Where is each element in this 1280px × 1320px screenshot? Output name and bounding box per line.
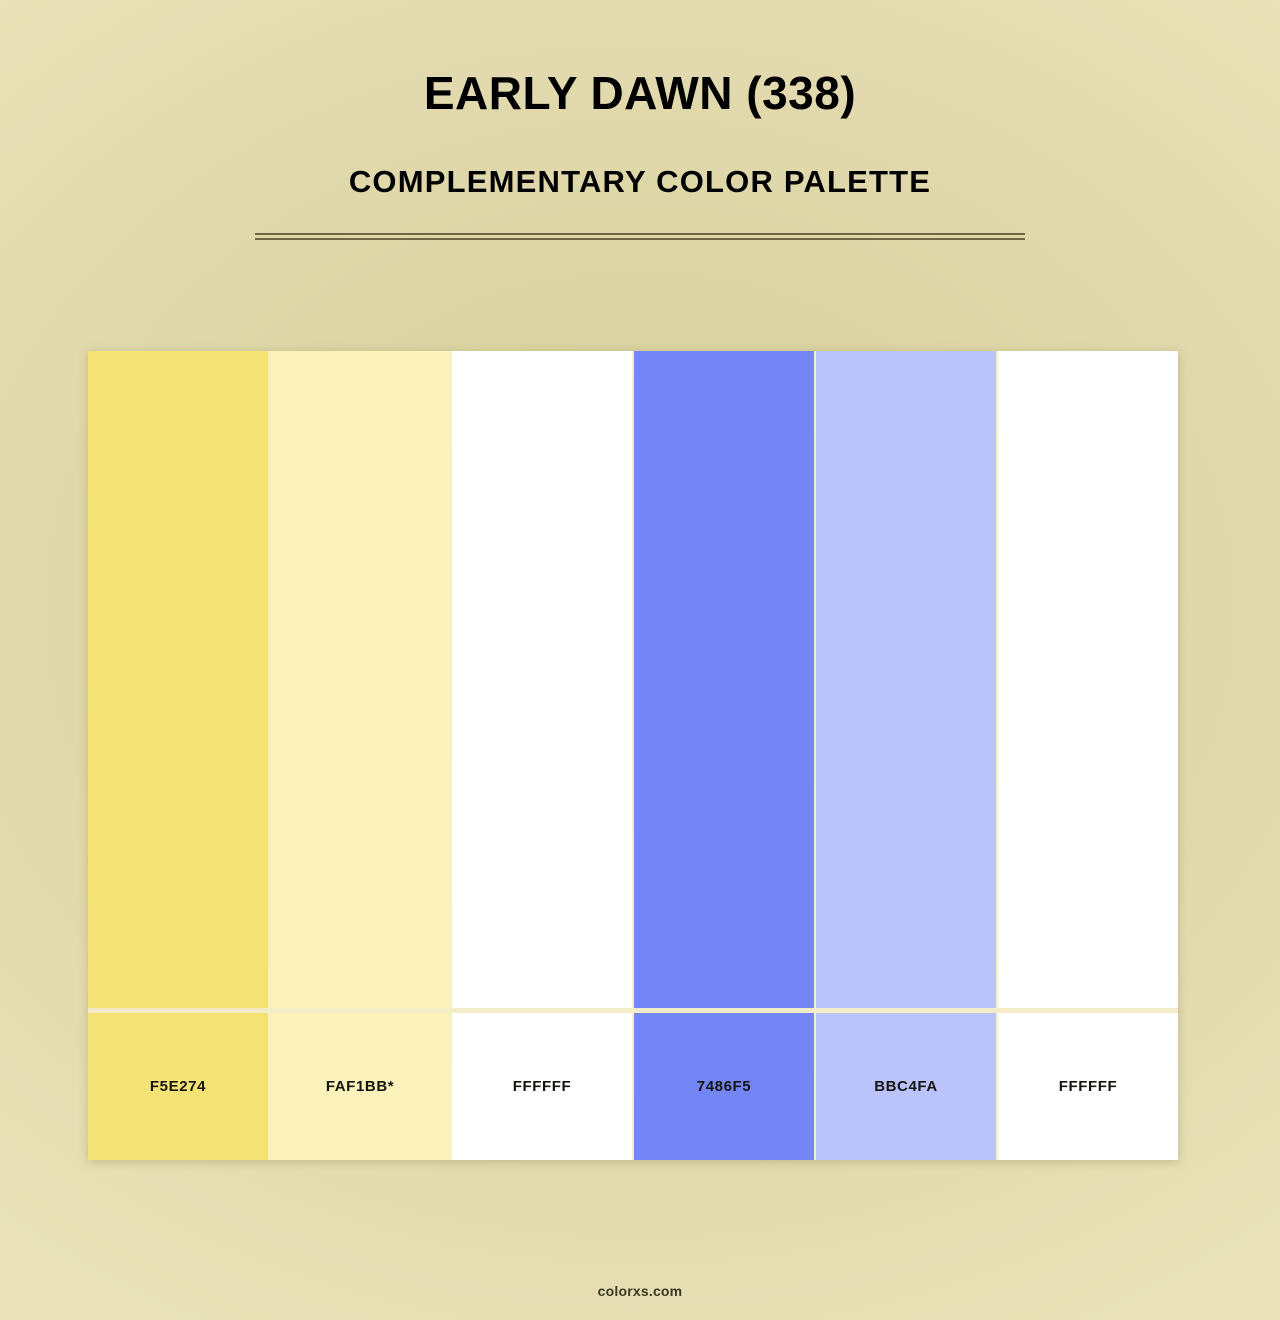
- color-hex-label: BBC4FA: [874, 1078, 938, 1095]
- page-header: EARLY DAWN (338) COMPLEMENTARY COLOR PAL…: [0, 0, 1280, 240]
- color-label-cell[interactable]: BBC4FA: [816, 1013, 996, 1160]
- color-swatch-column[interactable]: BBC4FA: [816, 351, 998, 1160]
- header-divider: [255, 233, 1025, 240]
- page-title: EARLY DAWN (338): [0, 68, 1280, 119]
- color-swatch-column[interactable]: FAF1BB*: [270, 351, 452, 1160]
- color-label-cell[interactable]: FFFFFF: [452, 1013, 632, 1160]
- color-label-cell[interactable]: FFFFFF: [998, 1013, 1178, 1160]
- color-label-cell[interactable]: FAF1BB*: [270, 1013, 450, 1160]
- color-hex-label: 7486F5: [697, 1078, 751, 1095]
- color-swatch-block[interactable]: [634, 351, 814, 1008]
- color-swatch-block[interactable]: [816, 351, 996, 1008]
- color-hex-label: FFFFFF: [513, 1078, 572, 1095]
- color-swatch-block[interactable]: [88, 351, 268, 1008]
- color-label-cell[interactable]: 7486F5: [634, 1013, 814, 1160]
- page-footer: colorxs.com: [0, 1283, 1280, 1301]
- palette-panel: F5E274 FAF1BB* FFFFFF 7486F5: [88, 351, 1178, 1160]
- color-swatch-block[interactable]: [998, 351, 1178, 1008]
- color-swatch-column[interactable]: F5E274: [88, 351, 270, 1160]
- color-hex-label: FFFFFF: [1059, 1078, 1118, 1095]
- page-subtitle: COMPLEMENTARY COLOR PALETTE: [0, 119, 1280, 199]
- color-swatch-column[interactable]: FFFFFF: [998, 351, 1178, 1160]
- color-swatch-column[interactable]: 7486F5: [634, 351, 816, 1160]
- color-swatch-list: F5E274 FAF1BB* FFFFFF 7486F5: [88, 351, 1178, 1160]
- color-hex-label: F5E274: [150, 1078, 206, 1095]
- color-swatch-block[interactable]: [452, 351, 632, 1008]
- color-swatch-block[interactable]: [270, 351, 450, 1008]
- color-label-cell[interactable]: F5E274: [88, 1013, 268, 1160]
- color-swatch-column[interactable]: FFFFFF: [452, 351, 634, 1160]
- site-attribution: colorxs.com: [598, 1283, 683, 1299]
- color-hex-label: FAF1BB*: [326, 1078, 394, 1095]
